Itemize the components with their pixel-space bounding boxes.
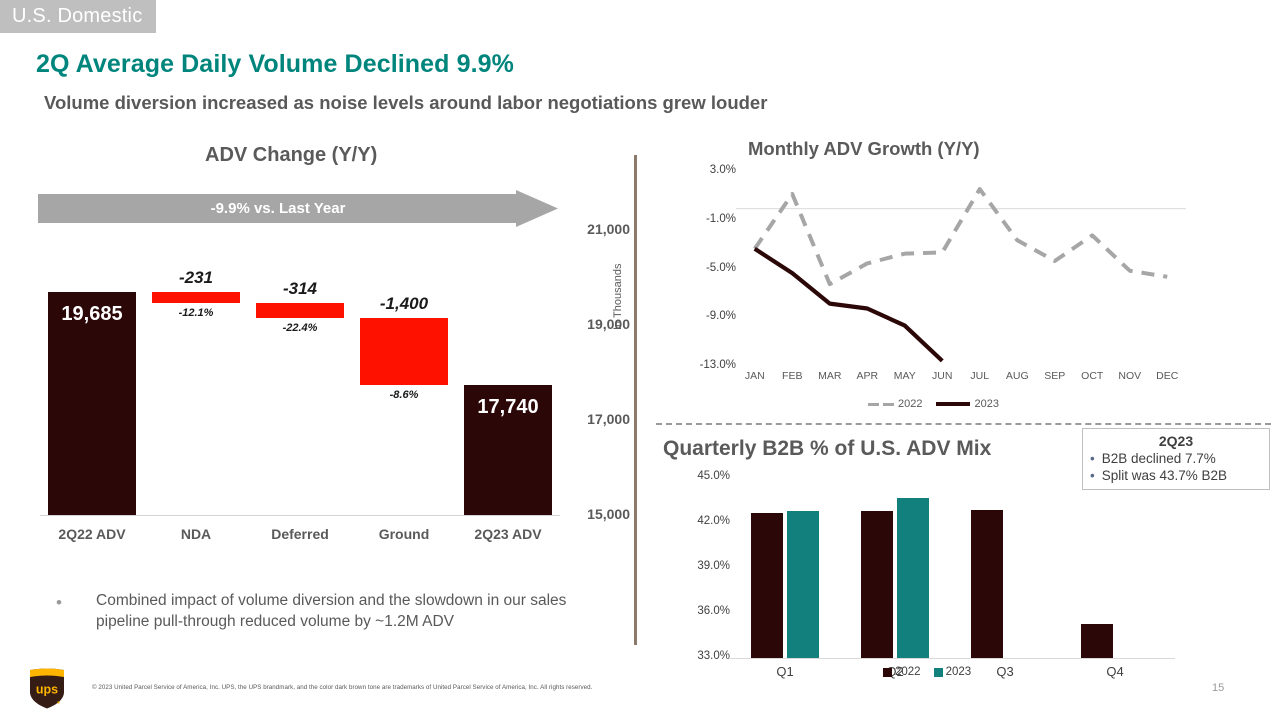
monthly-y-tick: 3.0% (710, 164, 736, 176)
waterfall-y-tick: 17,000 (587, 411, 630, 427)
waterfall-baseline (40, 515, 560, 516)
monthly-x-tick: DEC (1149, 370, 1187, 382)
bullet-text: Combined impact of volume diversion and … (96, 590, 616, 632)
monthly-x-tick: FEB (774, 370, 812, 382)
waterfall-y-axis-title: In Thousands (612, 264, 624, 330)
monthly-y-tick: -13.0% (700, 359, 736, 371)
waterfall-bar-group: 17,740 (464, 230, 552, 515)
monthly-x-tick: MAY (886, 370, 924, 382)
callout-list-item: •Split was 43.7% B2B (1087, 467, 1265, 484)
monthly-x-tick: SEP (1036, 370, 1074, 382)
legend-label: 2023 (946, 666, 972, 678)
monthly-x-tick: JUN (924, 370, 962, 382)
waterfall-value-label: -1,400 (360, 294, 448, 314)
monthly-x-tick: APR (849, 370, 887, 382)
waterfall-value-label: -314 (256, 279, 344, 299)
callout-list-item: •B2B declined 7.7% (1087, 450, 1265, 467)
horizontal-dashed-divider (656, 423, 1271, 425)
monthly-y-tick: -5.0% (706, 262, 736, 274)
bullet-block: • Combined impact of volume diversion an… (56, 590, 616, 632)
waterfall-value-label: -231 (152, 268, 240, 288)
monthly-x-tick: OCT (1074, 370, 1112, 382)
ups-logo: ups (27, 666, 67, 710)
waterfall-percent-label: -22.4% (256, 322, 344, 334)
legend-label: 2023 (974, 398, 998, 410)
waterfall-y-tick: 21,000 (587, 221, 630, 237)
legend-item-2023: 2023 (936, 398, 1006, 410)
b2b-bar-2023 (787, 511, 819, 658)
legend-line-swatch (936, 402, 970, 406)
callout-bullet-marker: • (1090, 450, 1095, 467)
callout-bullet-marker: • (1090, 467, 1095, 484)
b2b-y-tick: 42.0% (697, 515, 730, 527)
legend-item-2022: 2022 (868, 398, 930, 410)
monthly-chart-legend: 20222023 (868, 397, 1007, 411)
svg-text:ups: ups (36, 683, 58, 697)
page-number: 15 (1212, 682, 1224, 694)
b2b-bar-2022 (1081, 624, 1113, 659)
legend-dash-swatch (868, 403, 879, 406)
b2b-bar-2022 (751, 513, 783, 659)
legend-color-swatch (883, 668, 892, 677)
waterfall-percent-label: -12.1% (152, 307, 240, 319)
monthly-line-plot (736, 172, 1186, 367)
b2b-x-tick: Q1 (730, 664, 840, 679)
monthly-x-tick: NOV (1111, 370, 1149, 382)
monthly-chart-title: Monthly ADV Growth (Y/Y) (748, 138, 980, 160)
waterfall-value-label: 19,685 (48, 303, 136, 326)
callout-title: 2Q23 (1087, 432, 1265, 450)
waterfall-bar-group: -1,400-8.6% (360, 230, 448, 515)
callout-item-text: Split was 43.7% B2B (1102, 467, 1227, 484)
monthly-y-tick: -9.0% (706, 310, 736, 322)
b2b-baseline (730, 658, 1175, 659)
callout-list: •B2B declined 7.7%•Split was 43.7% B2B (1087, 450, 1265, 484)
monthly-y-axis: 3.0%-1.0%-5.0%-9.0%-13.0% (680, 165, 736, 375)
waterfall-delta-bar (152, 292, 240, 303)
waterfall-category-label: 2Q22 ADV (40, 526, 144, 542)
b2b-y-axis: 45.0%42.0%39.0%36.0%33.0% (675, 470, 730, 670)
b2b-bar-2023 (897, 498, 929, 659)
monthly-series-2023 (755, 249, 943, 361)
vertical-divider (634, 155, 637, 645)
waterfall-percent-label: -8.6% (360, 389, 448, 401)
waterfall-value-label: 17,740 (464, 396, 552, 419)
legend-label: 2022 (895, 666, 921, 678)
waterfall-category-label: NDA (144, 526, 248, 542)
footer-copyright: © 2023 United Parcel Service of America,… (92, 684, 592, 691)
b2b-x-tick: Q4 (1060, 664, 1170, 679)
waterfall-delta-bar (360, 318, 448, 385)
waterfall-bar-group: -231-12.1% (152, 230, 240, 515)
b2b-chart-legend: 20222023 (883, 666, 980, 678)
waterfall-category-label: 2Q23 ADV (456, 526, 560, 542)
waterfall-y-tick: 15,000 (587, 506, 630, 522)
waterfall-delta-bar (256, 303, 344, 318)
waterfall-plot: 19,685-231-12.1%-314-22.4%-1,400-8.6%17,… (40, 230, 560, 515)
b2b-y-tick: 33.0% (697, 650, 730, 662)
arrow-banner-label: -9.9% vs. Last Year (38, 190, 518, 227)
b2b-bar-group (730, 478, 840, 658)
page-title: 2Q Average Daily Volume Declined 9.9% (36, 50, 514, 79)
legend-item-2023: 2023 (934, 666, 972, 678)
b2b-chart-title: Quarterly B2B % of U.S. ADV Mix (663, 437, 991, 461)
b2b-y-tick: 39.0% (697, 560, 730, 572)
waterfall-chart-title: ADV Change (Y/Y) (205, 144, 377, 167)
monthly-x-tick: JUL (961, 370, 999, 382)
legend-dash-swatch (883, 403, 894, 406)
b2b-bar-group (950, 478, 1060, 658)
b2b-bar-2022 (971, 510, 1003, 659)
section-tag: U.S. Domestic (0, 0, 156, 33)
callout-item-text: B2B declined 7.7% (1102, 450, 1216, 467)
waterfall-category-axis: 2Q22 ADVNDADeferredGround2Q23 ADV (40, 526, 560, 550)
waterfall-category-label: Ground (352, 526, 456, 542)
callout-box: 2Q23 •B2B declined 7.7%•Split was 43.7% … (1082, 428, 1270, 490)
page-subtitle: Volume diversion increased as noise leve… (44, 92, 767, 114)
b2b-bar-group (840, 478, 950, 658)
legend-item-2022: 2022 (883, 666, 921, 678)
monthly-x-axis: JANFEBMARAPRMAYJUNJULAUGSEPOCTNOVDEC (736, 370, 1186, 388)
b2b-y-tick: 45.0% (697, 470, 730, 482)
b2b-y-tick: 36.0% (697, 605, 730, 617)
waterfall-bar-group: 19,685 (48, 230, 136, 515)
bullet-marker: • (56, 593, 62, 613)
waterfall-category-label: Deferred (248, 526, 352, 542)
legend-label: 2022 (898, 398, 922, 410)
legend-color-swatch (934, 668, 943, 677)
monthly-x-tick: JAN (736, 370, 774, 382)
waterfall-bar-group: -314-22.4% (256, 230, 344, 515)
monthly-series-2022 (755, 189, 1168, 284)
monthly-x-tick: AUG (999, 370, 1037, 382)
monthly-x-tick: MAR (811, 370, 849, 382)
b2b-bar-group (1060, 478, 1170, 658)
b2b-plot (730, 478, 1170, 658)
b2b-bar-2022 (861, 511, 893, 658)
monthly-y-tick: -1.0% (706, 213, 736, 225)
